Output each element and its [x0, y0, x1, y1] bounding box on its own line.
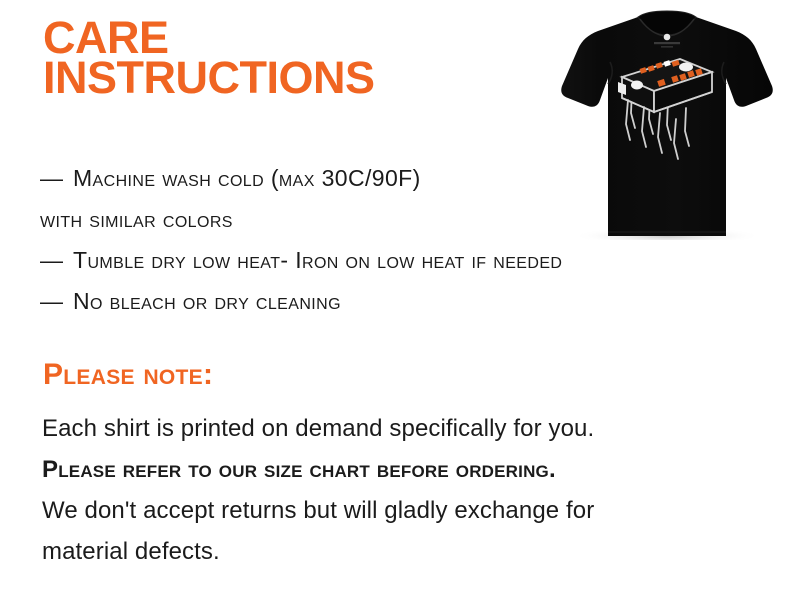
note-paragraph-size-chart: Please refer to our size chart before or…: [42, 449, 762, 490]
em-dash-bullet-icon: —: [40, 158, 73, 199]
note-paragraph-returns-line-1: We don't accept returns but will gladly …: [42, 490, 762, 531]
please-note-heading: Please note:: [43, 358, 213, 392]
note-paragraph-returns-line-2: material defects.: [42, 531, 762, 572]
brand-tag-icon: [664, 34, 671, 41]
care-instruction-item: — No bleach or dry cleaning: [40, 281, 770, 322]
care-instructions-card: CARE INSTRUCTIONS — Machine wash cold (m…: [0, 0, 794, 595]
care-instruction-text: No bleach or dry cleaning: [73, 281, 341, 322]
care-instruction-item: — Tumble dry low heat- Iron on low heat …: [40, 240, 770, 281]
brand-tag-text: [654, 42, 680, 44]
note-paragraph-printed-on-demand: Each shirt is printed on demand specific…: [42, 408, 762, 449]
tshirt-illustration: [540, 0, 794, 240]
care-instruction-text: with similar colors: [40, 199, 233, 240]
em-dash-bullet-icon: —: [40, 281, 73, 322]
chip-pin1-dot: [631, 81, 643, 90]
page-title: CARE INSTRUCTIONS: [43, 18, 513, 98]
care-instruction-text: Machine wash cold (max 30C/90F): [73, 158, 421, 199]
please-note-body: Each shirt is printed on demand specific…: [42, 408, 762, 572]
care-instruction-text: Tumble dry low heat- Iron on low heat if…: [73, 240, 562, 281]
brand-tag-subtext: [661, 46, 673, 48]
page-title-line-2: INSTRUCTIONS: [43, 58, 513, 98]
chip-corner-highlight: [679, 63, 693, 72]
em-dash-bullet-icon: —: [40, 240, 73, 281]
product-image-tshirt: [540, 0, 794, 240]
